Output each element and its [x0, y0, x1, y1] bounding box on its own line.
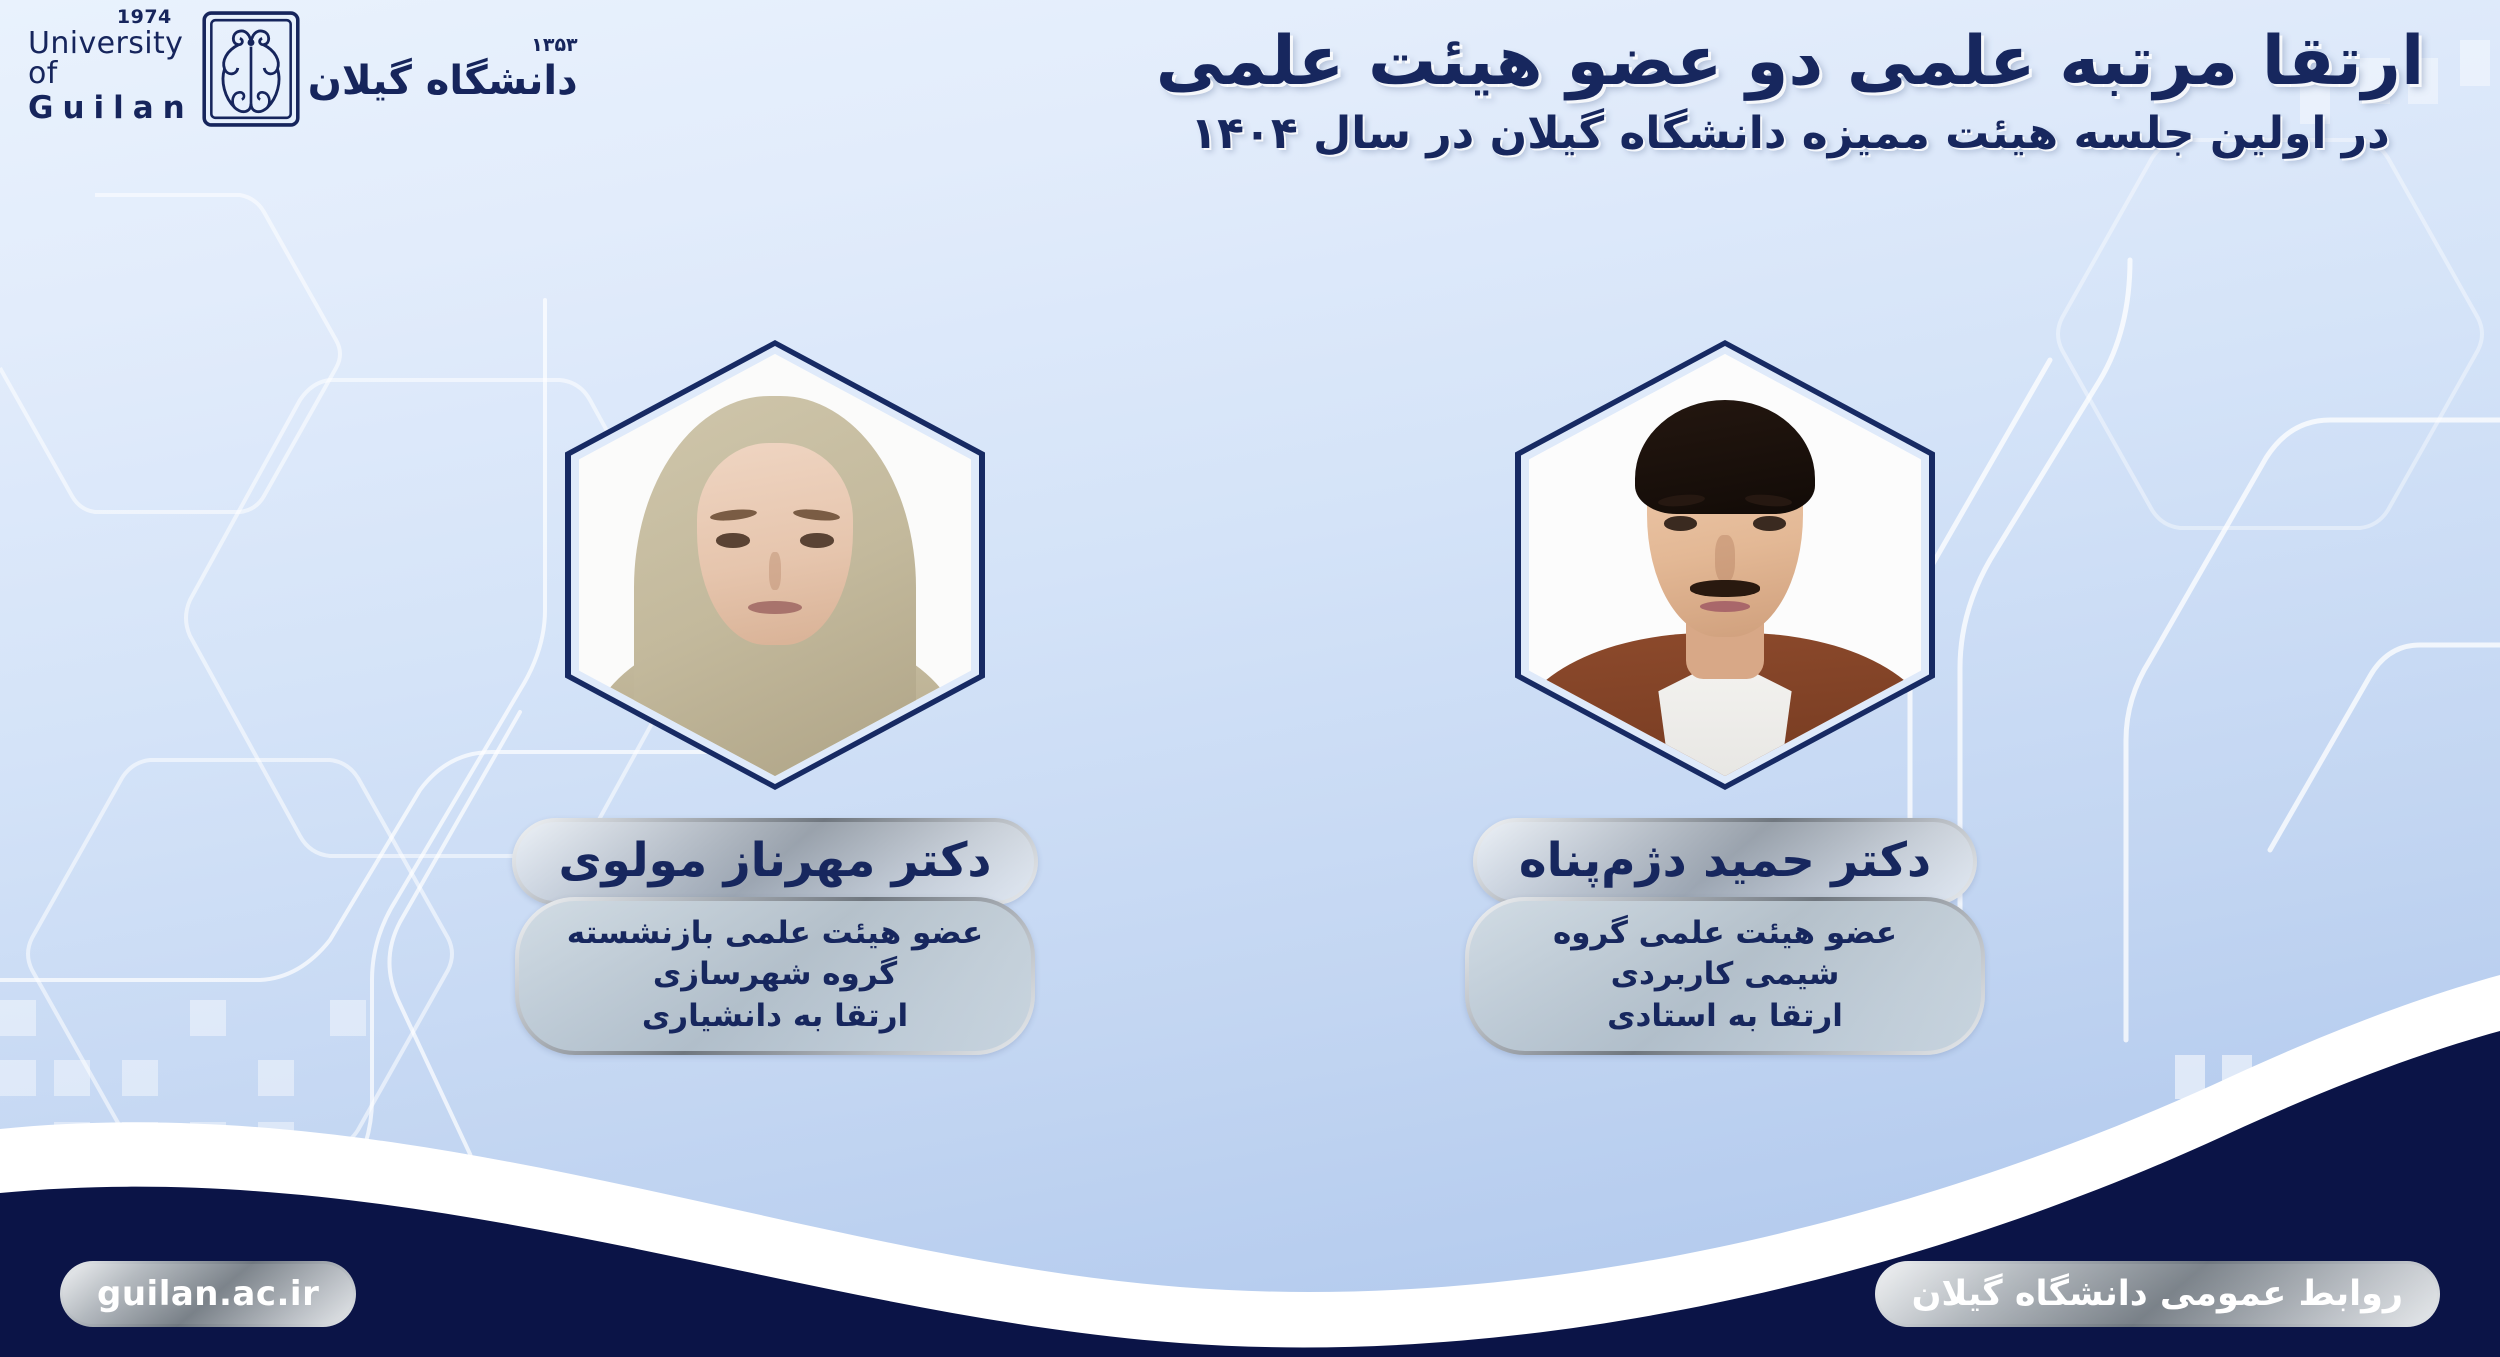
faculty-list: دکتر مهرناز مولوی عضو هیئت علمی بازنشسته…: [0, 340, 2500, 1055]
guilan-emblem-icon: [200, 10, 302, 128]
university-logo: 1974 University of Guilan ۱۳۵۳ دانشگاه گ…: [28, 6, 508, 132]
public-relations-badge: روابط عمومی دانشگاه گیلان: [1875, 1261, 2440, 1327]
photo-frame: [1515, 340, 1935, 790]
logo-line-guilan: Guilan: [28, 93, 194, 124]
website-url-badge[interactable]: guilan.ac.ir: [60, 1261, 356, 1327]
logo-name-fa: دانشگاه گیلان: [308, 58, 578, 104]
header-text-block: ارتقا مرتبه علمی دو عضو هیئت علمی در اول…: [1120, 22, 2460, 161]
poster-canvas: 1974 University of Guilan ۱۳۵۳ دانشگاه گ…: [0, 0, 2500, 1357]
logo-english-text: 1974 University of Guilan: [28, 8, 194, 130]
logo-line-university-of: University of: [28, 29, 194, 89]
page-subtitle: در اولین جلسه هیئت ممیزه دانشگاه گیلان د…: [1120, 108, 2460, 161]
faculty-card-hamid-dezhampanah: دکتر حمید دژم‌پناه عضو هیئت علمی گروه شی…: [1465, 340, 1985, 1055]
logo-year-en: 1974: [117, 8, 172, 27]
page-title: ارتقا مرتبه علمی دو عضو هیئت علمی: [1120, 22, 2460, 102]
faculty-name-badge: دکتر مهرناز مولوی: [512, 818, 1037, 905]
faculty-name-badge: دکتر حمید دژم‌پناه: [1473, 818, 1977, 905]
faculty-card-mehrnaz-molavi: دکتر مهرناز مولوی عضو هیئت علمی بازنشسته…: [515, 340, 1035, 1055]
logo-year-fa: ۱۳۵۳: [531, 34, 577, 56]
logo-persian-text: ۱۳۵۳ دانشگاه گیلان: [308, 34, 578, 104]
photo-frame: [565, 340, 985, 790]
